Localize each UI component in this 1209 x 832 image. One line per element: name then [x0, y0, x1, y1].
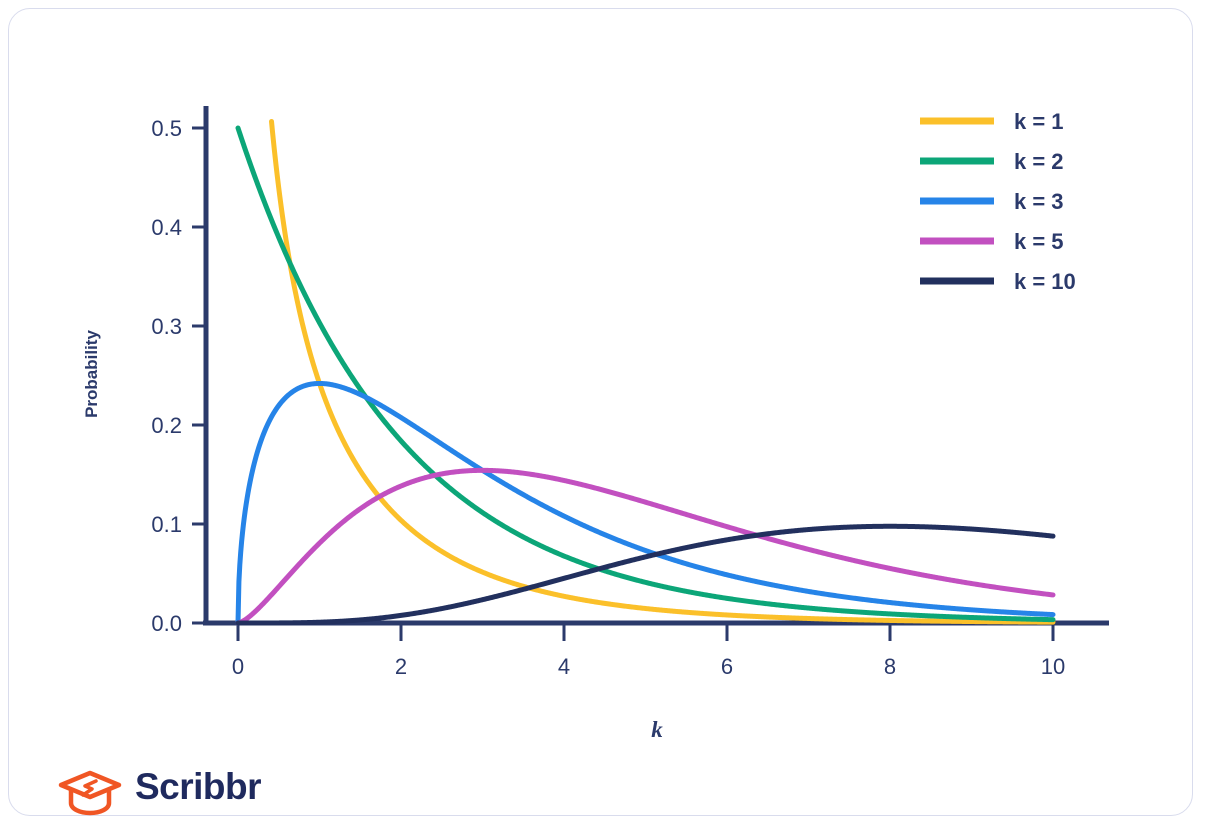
- y-tick-label: 0.3: [151, 314, 182, 339]
- legend-label: k = 5: [1014, 229, 1064, 254]
- x-axis-title: k: [651, 717, 663, 742]
- scribbr-logo: Scribbr: [57, 766, 287, 818]
- y-tick-label: 0.0: [151, 611, 182, 636]
- legend-item: k = 10: [920, 269, 1076, 294]
- x-tick-label: 0: [232, 654, 244, 679]
- x-tick-label: 6: [721, 654, 733, 679]
- legend-label: k = 10: [1014, 269, 1076, 294]
- series-line-k5: [238, 470, 1053, 623]
- y-axis-title: Probability: [82, 330, 101, 418]
- x-tick-label: 2: [395, 654, 407, 679]
- legend-item: k = 3: [920, 189, 1064, 214]
- graduation-cap-icon: [57, 770, 123, 816]
- legend-label: k = 2: [1014, 149, 1064, 174]
- logo-wordmark: Scribbr: [135, 766, 261, 808]
- figure: 0.0 0.1 0.2 0.3 0.4 0.5 0 2 4 6: [9, 9, 1194, 817]
- legend-label: k = 1: [1014, 109, 1064, 134]
- legend-item: k = 5: [920, 229, 1064, 254]
- y-tick-label: 0.4: [151, 215, 182, 240]
- y-tick-label: 0.1: [151, 512, 182, 537]
- legend-item: k = 1: [920, 109, 1064, 134]
- x-tick-label: 10: [1041, 654, 1065, 679]
- y-tick-labels: 0.0 0.1 0.2 0.3 0.4 0.5: [151, 116, 182, 636]
- y-tick-label: 0.2: [151, 413, 182, 438]
- legend: k = 1 k = 2 k = 3 k = 5 k = 10: [920, 109, 1076, 294]
- legend-item: k = 2: [920, 149, 1064, 174]
- chart-card: 0.0 0.1 0.2 0.3 0.4 0.5 0 2 4 6: [8, 8, 1193, 816]
- x-tick-marks: [238, 623, 1053, 641]
- chi-square-plot: 0.0 0.1 0.2 0.3 0.4 0.5 0 2 4 6: [9, 9, 1194, 817]
- legend-label: k = 3: [1014, 189, 1064, 214]
- series-line-k1: [272, 121, 1053, 622]
- x-tick-label: 8: [884, 654, 896, 679]
- data-curves: [238, 121, 1053, 623]
- x-tick-labels: 0 2 4 6 8 10: [232, 654, 1065, 679]
- y-tick-label: 0.5: [151, 116, 182, 141]
- x-tick-label: 4: [558, 654, 570, 679]
